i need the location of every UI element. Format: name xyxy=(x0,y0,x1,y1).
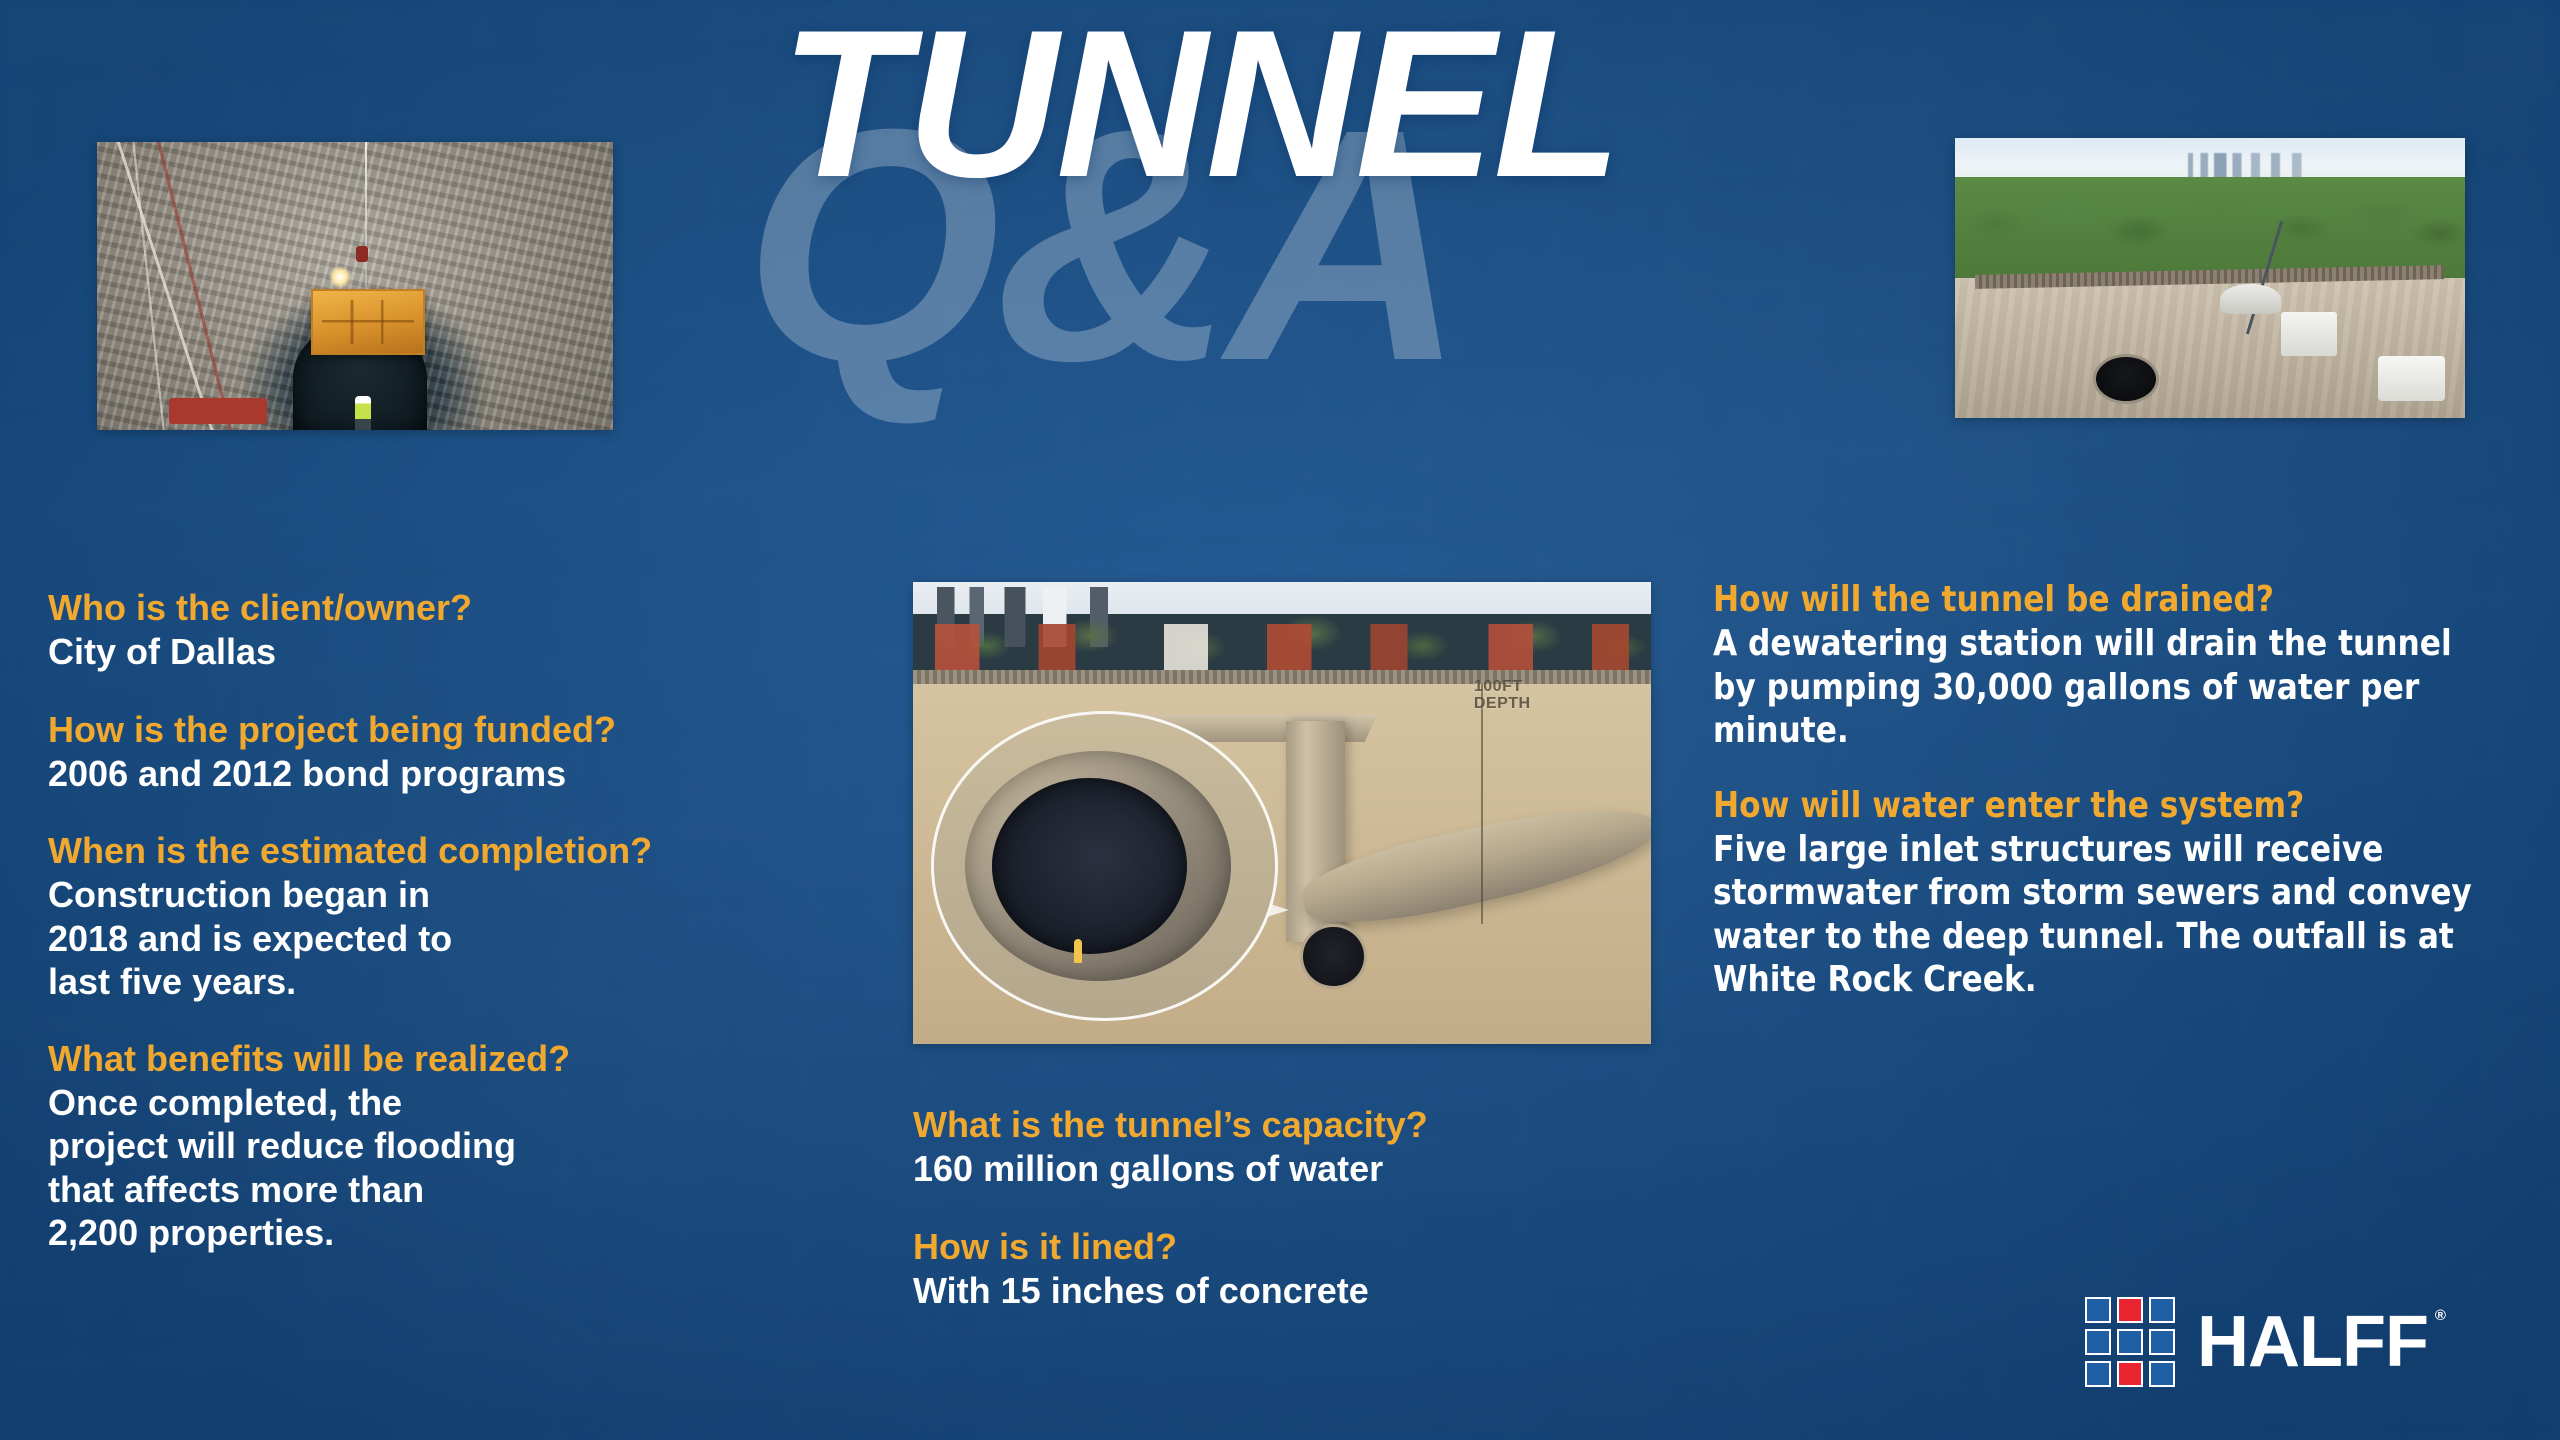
halff-wordmark-text: HALFF xyxy=(2197,1302,2428,1382)
qa-column-right: How will the tunnel be drained? A dewate… xyxy=(1713,580,2543,1035)
qa-question: How will water enter the system? xyxy=(1713,786,2514,826)
dallas-skyline xyxy=(2179,153,2332,178)
logo-cell xyxy=(2085,1361,2111,1387)
qa-item: Who is the client/owner? City of Dallas xyxy=(48,588,848,674)
depth-leader-line xyxy=(1481,684,1483,924)
halff-wordmark: HALFF ® xyxy=(2197,1306,2428,1378)
logo-cell xyxy=(2085,1329,2111,1355)
logo-cell xyxy=(2149,1297,2175,1323)
qa-question: How is the project being funded? xyxy=(48,710,848,750)
registered-trademark-icon: ® xyxy=(2435,1308,2445,1323)
halff-logo: HALFF ® xyxy=(2085,1297,2428,1387)
qa-question: What is the tunnel’s capacity? xyxy=(913,1105,1673,1145)
qa-answer: With 15 inches of concrete xyxy=(913,1269,1673,1312)
halff-grid-icon xyxy=(2085,1297,2175,1387)
logo-cell xyxy=(2149,1329,2175,1355)
logo-cell-red xyxy=(2117,1297,2143,1323)
qa-item: When is the estimated completion? Constr… xyxy=(48,831,848,1003)
equipment-dome xyxy=(2220,284,2281,315)
qa-question: What benefits will be realized? xyxy=(48,1039,848,1079)
tunnel-interior-void xyxy=(992,778,1186,954)
qa-item: What benefits will be realized? Once com… xyxy=(48,1039,848,1254)
aerial-construction-site-photo xyxy=(1955,138,2465,418)
qa-answer: Construction began in 2018 and is expect… xyxy=(48,873,518,1003)
qa-item: What is the tunnel’s capacity? 160 milli… xyxy=(913,1105,1673,1191)
logo-cell xyxy=(2085,1297,2111,1323)
qa-answer: Five large inlet structures will receive… xyxy=(1713,828,2485,1001)
hoist-cable xyxy=(365,142,367,292)
hoist-hook xyxy=(356,246,368,262)
logo-cell-red xyxy=(2117,1361,2143,1387)
qa-answer: Once completed, the project will reduce … xyxy=(48,1081,518,1254)
qa-item: How will the tunnel be drained? A dewate… xyxy=(1713,580,2543,752)
qa-column-left: Who is the client/owner? City of Dallas … xyxy=(48,588,848,1290)
qa-answer: A dewatering station will drain the tunn… xyxy=(1713,622,2475,752)
qa-item: How will water enter the system? Five la… xyxy=(1713,786,2543,1001)
storage-tank-b xyxy=(2378,356,2444,401)
qa-answer: City of Dallas xyxy=(48,630,848,673)
tunnel-cutaway-render: 100FT DEPTH xyxy=(913,582,1651,1044)
man-cage xyxy=(311,289,425,355)
red-equipment xyxy=(169,398,267,424)
qa-question: How will the tunnel be drained? xyxy=(1713,580,2514,620)
storage-tank-a xyxy=(2281,312,2337,357)
logo-cell xyxy=(2117,1329,2143,1355)
qa-item: How is it lined? With 15 inches of concr… xyxy=(913,1227,1673,1313)
render-houses xyxy=(913,624,1651,675)
worker-figure xyxy=(355,396,371,430)
logo-cell xyxy=(2149,1361,2175,1387)
work-lamp xyxy=(329,266,351,288)
tunnel-qa-poster: Q&A TUNNEL xyxy=(0,0,2560,1440)
qa-answer: 2006 and 2012 bond programs xyxy=(48,752,848,795)
scale-person-figure xyxy=(1074,939,1082,963)
qa-question: How is it lined? xyxy=(913,1227,1673,1267)
qa-question: When is the estimated completion? xyxy=(48,831,848,871)
render-callout-cross-section xyxy=(931,711,1278,1021)
qa-answer: 160 million gallons of water xyxy=(913,1147,1673,1190)
qa-column-center: What is the tunnel’s capacity? 160 milli… xyxy=(913,1105,1673,1348)
depth-label: 100FT DEPTH xyxy=(1474,679,1531,713)
qa-question: Who is the client/owner? xyxy=(48,588,848,628)
render-tunnel-mouth xyxy=(1300,924,1366,989)
shaft-opening xyxy=(2093,354,2159,404)
qa-item: How is the project being funded? 2006 an… xyxy=(48,710,848,796)
page-title: TUNNEL xyxy=(780,0,1620,215)
tunnel-shaft-rock-face-photo xyxy=(97,142,613,430)
